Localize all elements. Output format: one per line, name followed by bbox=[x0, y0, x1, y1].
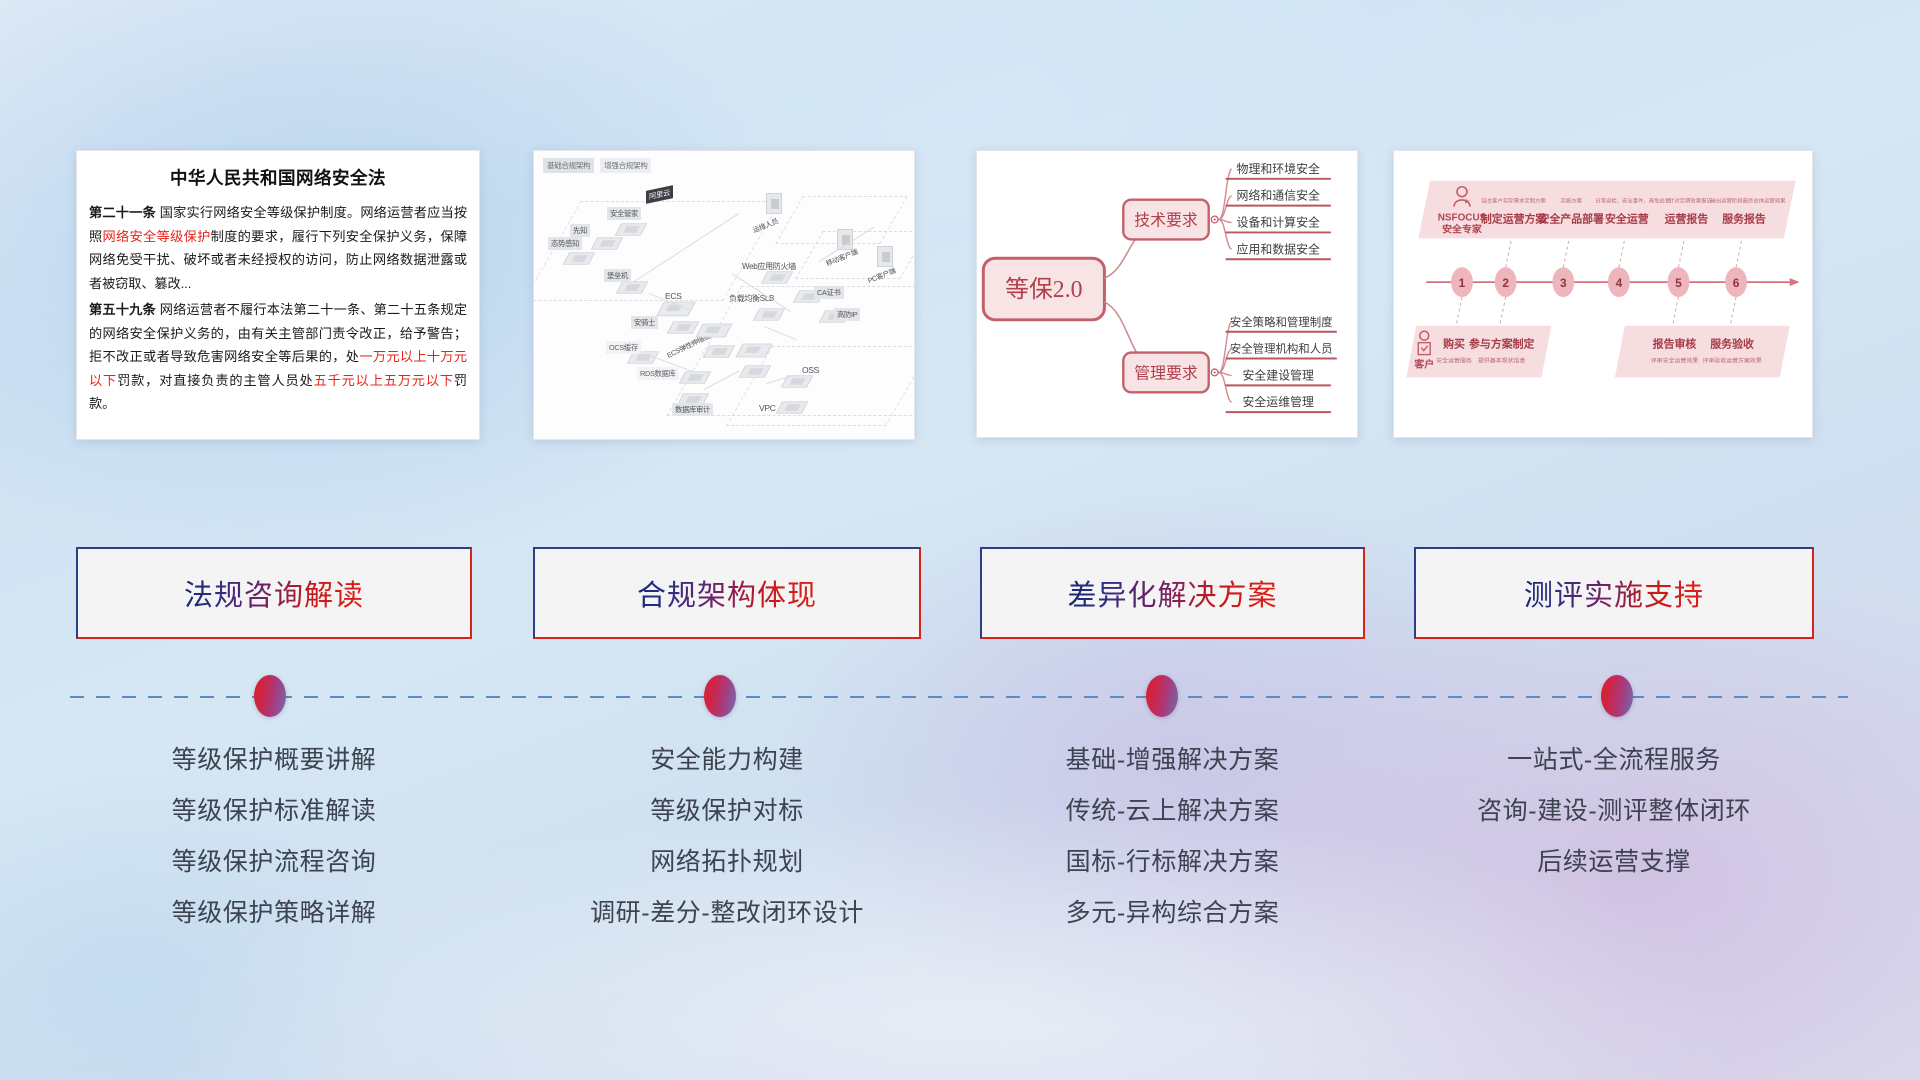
arch-label-ca: CA证书 bbox=[814, 286, 844, 299]
feature-item: 一站式-全流程服务 bbox=[1414, 735, 1814, 786]
nsfocus-step-1-bottom-sub: 安全运营服务 bbox=[1436, 357, 1472, 365]
arch-label-db-audit: 数据库审计 bbox=[672, 403, 713, 416]
timeline-dot-1[interactable] bbox=[254, 675, 286, 717]
mindmap-branch-2-item-2: 安全管理机构和人员 bbox=[1230, 342, 1333, 356]
nsfocus-step-2-top-title: 制定运营方案 bbox=[1481, 212, 1548, 226]
section-title-box-4[interactable]: 测评实施支持 bbox=[1414, 547, 1814, 639]
nsfocus-customer-label: 客户 bbox=[1413, 357, 1434, 370]
arch-label-anqishi: 安骑士 bbox=[631, 316, 658, 329]
architecture-diagram: 基础合规架构 增强合规架构 阿里云 安全管家 先知 态势感知 堡垒机 ECS 安… bbox=[534, 151, 914, 439]
mindmap-branch-1-item-4: 应用和数据安全 bbox=[1237, 242, 1320, 256]
feature-item: 等级保护对标 bbox=[533, 786, 921, 837]
feature-list-1: 等级保护概要讲解 等级保护标准解读 等级保护流程咨询 等级保护策略详解 bbox=[76, 735, 472, 939]
section-title-box-1[interactable]: 法规咨询解读 bbox=[76, 547, 472, 639]
arch-label-oss: OSS bbox=[799, 363, 822, 376]
law-article-59-label: 第五十九条 bbox=[89, 302, 156, 317]
feature-item: 多元-异构综合方案 bbox=[980, 888, 1365, 939]
mindmap-root-label: 等保2.0 bbox=[1005, 276, 1082, 303]
nsfocus-step-6-bottom-title: 服务验收 bbox=[1710, 337, 1754, 351]
arch-node-icon-10 bbox=[761, 271, 794, 283]
law-article-59-highlight-2: 五千元以上五万元以下 bbox=[314, 373, 454, 388]
nsfocus-step-3-top-title: 安全产品部署 bbox=[1539, 212, 1605, 226]
feature-item: 调研-差分-整改闭环设计 bbox=[533, 888, 921, 939]
feature-item: 等级保护概要讲解 bbox=[76, 735, 472, 786]
mindmap-card: 等保2.0 技术要求 物理和环境安全 网络和通信安全 设备和计算安全 应用和数据… bbox=[976, 150, 1358, 438]
nsfocus-step-5-bottom-sub: 评审安全运营效果 bbox=[1651, 357, 1699, 365]
feature-item: 后续运营支撑 bbox=[1414, 837, 1814, 888]
law-article-59-text-b: 罚款，对直接负责的主管人员处 bbox=[117, 373, 313, 388]
arch-label-bastion-host: 堡垒机 bbox=[604, 269, 631, 282]
nsfocus-step-5-bottom-title: 报告审核 bbox=[1653, 337, 1697, 351]
architecture-tabs: 基础合规架构 增强合规架构 bbox=[543, 158, 651, 173]
feature-list-2: 安全能力构建 等级保护对标 网络拓扑规划 调研-差分-整改闭环设计 bbox=[533, 735, 921, 939]
nsfocus-step-3-num: 3 bbox=[1560, 276, 1567, 290]
mindmap-branch-2-item-4: 安全运维管理 bbox=[1243, 395, 1315, 409]
nsfocus-expert-line1: NSFOCUS bbox=[1438, 213, 1487, 224]
nsfocus-step-6-bottom-sub: 评审验收运营方案效果 bbox=[1702, 357, 1761, 365]
feature-list-3: 基础-增强解决方案 传统-云上解决方案 国标-行标解决方案 多元-异构综合方案 bbox=[980, 735, 1365, 939]
mindmap-branch-1-item-1: 物理和环境安全 bbox=[1237, 162, 1320, 176]
law-article-21-label: 第二十一条 bbox=[89, 205, 156, 220]
law-article-21: 第二十一条 国家实行网络安全等级保护制度。网络运营者应当按照网络安全等级保护制度… bbox=[89, 201, 467, 295]
mindmap-branch-1-item-2: 网络和通信安全 bbox=[1237, 189, 1320, 203]
nsfocus-step-1-bottom-title: 购买 bbox=[1443, 337, 1465, 351]
arch-node-icon-20 bbox=[766, 193, 782, 214]
nsfocus-step-4-top-sub: 日常巡检、安全事件、高危处置 bbox=[1595, 197, 1671, 205]
nsfocus-step-2-num: 2 bbox=[1502, 276, 1509, 290]
section-title-label-3: 差异化解决方案 bbox=[1067, 572, 1277, 614]
mindmap-branch-1-label: 技术要求 bbox=[1134, 211, 1198, 229]
arch-label-vpc: VPC bbox=[756, 401, 779, 414]
nsfocus-step-6-top-sub: 输出运营阶段最终总体运营效果 bbox=[1710, 197, 1786, 205]
feature-lists-row: 等级保护概要讲解 等级保护标准解读 等级保护流程咨询 等级保护策略详解 安全能力… bbox=[0, 735, 1920, 965]
feature-item: 网络拓扑规划 bbox=[533, 837, 921, 888]
section-title-label-1: 法规咨询解读 bbox=[184, 572, 364, 614]
architecture-card: 基础合规架构 增强合规架构 阿里云 安全管家 先知 态势感知 堡垒机 ECS 安… bbox=[533, 150, 915, 440]
mindmap-branch-1-item-3: 设备和计算安全 bbox=[1237, 215, 1320, 229]
nsfocus-step-3-top-sub: 实施方案 bbox=[1560, 197, 1582, 205]
mindmap-svg: 等保2.0 技术要求 物理和环境安全 网络和通信安全 设备和计算安全 应用和数据… bbox=[977, 151, 1357, 437]
feature-item: 安全能力构建 bbox=[533, 735, 921, 786]
feature-item: 传统-云上解决方案 bbox=[980, 786, 1365, 837]
nsfocus-step-6-num: 6 bbox=[1733, 276, 1740, 290]
law-content: 中华人民共和国网络安全法 第二十一条 国家实行网络安全等级保护制度。网络运营者应… bbox=[77, 151, 479, 426]
feature-item: 等级保护流程咨询 bbox=[76, 837, 472, 888]
section-title-label-4: 测评实施支持 bbox=[1524, 572, 1704, 614]
section-titles-row: 法规咨询解读 合规架构体现 差异化解决方案 测评实施支持 bbox=[0, 547, 1920, 639]
mindmap-branch-2-item-3: 安全建设管理 bbox=[1243, 368, 1315, 382]
nsfocus-step-5-num: 5 bbox=[1675, 276, 1682, 290]
law-card: 中华人民共和国网络安全法 第二十一条 国家实行网络安全等级保护制度。网络运营者应… bbox=[76, 150, 480, 440]
arch-node-icon-6 bbox=[667, 321, 700, 333]
arch-label-anti-ddos: 高防IP bbox=[834, 308, 860, 321]
nsfocus-step-5-top-sub: 针对定期效果报告 bbox=[1669, 197, 1713, 205]
nsfocus-step-4-top-title: 安全运营 bbox=[1605, 212, 1649, 226]
tab-basic-architecture[interactable]: 基础合规架构 bbox=[543, 158, 594, 173]
mindmap-branch-2-label: 管理要求 bbox=[1134, 364, 1198, 382]
feature-list-4: 一站式-全流程服务 咨询-建设-测评整体闭环 后续运营支撑 bbox=[1414, 735, 1814, 888]
nsfocus-step-2-bottom-title: 参与方案制定 bbox=[1469, 337, 1535, 351]
law-article-59: 第五十九条 网络运营者不履行本法第二十一条、第二十五条规定的网络安全保护义务的，… bbox=[89, 298, 467, 416]
nsfocus-step-6-top-title: 服务报告 bbox=[1722, 212, 1766, 226]
timeline-dot-2[interactable] bbox=[704, 675, 736, 717]
section-title-box-2[interactable]: 合规架构体现 bbox=[533, 547, 921, 639]
feature-item: 咨询-建设-测评整体闭环 bbox=[1414, 786, 1814, 837]
arch-label-ocs-cache: OCS缓存 bbox=[606, 341, 641, 354]
mindmap-branch-2-item-1: 安全策略和管理制度 bbox=[1230, 315, 1333, 329]
law-title: 中华人民共和国网络安全法 bbox=[89, 165, 467, 190]
nsfocus-expert-line2: 安全专家 bbox=[1442, 222, 1482, 235]
nsfocus-step-4-num: 4 bbox=[1616, 276, 1623, 290]
section-title-label-2: 合规架构体现 bbox=[637, 572, 817, 614]
arch-label-security-butler: 安全管家 bbox=[607, 207, 641, 220]
nsfocus-step-2-top-sub: 结合客户实际需求定制方案 bbox=[1481, 197, 1546, 205]
law-article-21-highlight: 网络安全等级保护 bbox=[103, 229, 211, 244]
arch-label-xianzhi: 先知 bbox=[570, 224, 590, 237]
feature-item: 等级保护策略详解 bbox=[76, 888, 472, 939]
arch-label-rds: RDS数据库 bbox=[637, 367, 679, 380]
timeline-dot-3[interactable] bbox=[1146, 675, 1178, 717]
nsfocus-timeline-card: NSFOCUS 安全专家 客户 1 购买 安全运营服务 2 制定运营方案 结合客… bbox=[1393, 150, 1813, 438]
feature-item: 等级保护标准解读 bbox=[76, 786, 472, 837]
arch-label-waf: Web应用防火墙 bbox=[739, 259, 799, 273]
section-title-box-3[interactable]: 差异化解决方案 bbox=[980, 547, 1365, 639]
arch-label-situational-awareness: 态势感知 bbox=[548, 237, 582, 250]
nsfocus-step-1-num: 1 bbox=[1459, 276, 1466, 290]
feature-item: 基础-增强解决方案 bbox=[980, 735, 1365, 786]
nsfocus-timeline-svg: NSFOCUS 安全专家 客户 1 购买 安全运营服务 2 制定运营方案 结合客… bbox=[1394, 151, 1812, 437]
feature-item: 国标-行标解决方案 bbox=[980, 837, 1365, 888]
nsfocus-step-5-top-title: 运营报告 bbox=[1665, 212, 1709, 226]
nsfocus-step-2-bottom-sub: 提供基本现状信息 bbox=[1478, 357, 1526, 365]
tab-enhanced-architecture[interactable]: 增强合规架构 bbox=[600, 158, 651, 173]
cards-row: 中华人民共和国网络安全法 第二十一条 国家实行网络安全等级保护制度。网络运营者应… bbox=[0, 150, 1920, 442]
timeline-dot-4[interactable] bbox=[1601, 675, 1633, 717]
timeline-dashed-line bbox=[70, 696, 1848, 698]
